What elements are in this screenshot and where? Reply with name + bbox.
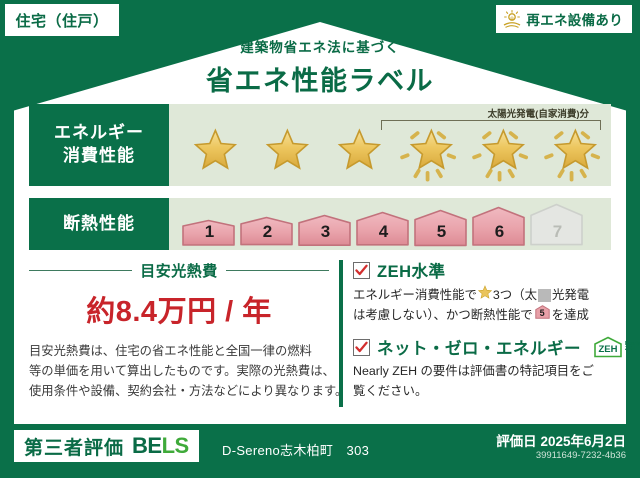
star-1 [181,122,251,184]
solar-bracket [381,120,601,130]
checkmark-icon [353,339,370,356]
bels-jp-text: 第三者評価 [24,433,124,460]
zeh-desc-line2-post: を達成 [552,306,589,325]
insulation-house-5: 5 [413,209,470,247]
svg-text:ZEH: ZEH [599,344,618,355]
net-zero-desc-line2: 覧ください。 [353,382,640,401]
zeh-desc-line2: は考慮しない）、かつ断熱性能で 5 を達成 [353,305,640,325]
checkmark-icon [353,262,370,279]
utility-cost-header: 目安光熱費 [29,260,329,281]
column-divider [339,260,343,407]
insulation-house-number: 2 [239,222,296,242]
star-icon-inline [478,285,492,305]
energy-performance-body: 太陽光発電(自家消費)分 [169,104,611,186]
page-title: 省エネ性能ラベル [0,59,640,98]
redacted-character [538,289,551,302]
net-zero-desc-line1: Nearly ZEH の要件は評価書の特記項目をご [353,362,640,381]
insulation-house-4: 4 [355,211,412,247]
net-zero-check-row: ネット・ゼロ・エネルギー ZEH Nearly ZEH [353,335,640,359]
zeh-logo: ZEH Nearly ZEH [593,336,640,358]
zeh-logo-sub: Nearly ZEH [625,342,640,353]
label-subtitle: 建築物省エネ法に基づく [0,36,640,56]
bels-logo-part2: LS [162,433,189,458]
title-block: 建築物省エネ法に基づく 省エネ性能ラベル [0,36,640,98]
house-badge-inline: 5 [535,305,550,325]
evaluation-date: 評価日 2025年6月2日 [496,430,626,450]
footer: 第三者評価 BELS D-Sereno志木柏町 303 評価日 2025年6月2… [0,424,640,478]
zeh-column: ZEH水準 エネルギー消費性能で 3つ（太 光発電 [353,258,640,413]
zeh-desc-post: 光発電 [552,286,589,305]
insulation-house-number: 1 [181,222,238,242]
energy-label-root: 住宅（住戸） ⊕ 再エネ設備あり 建築物省エネ法に基づく [0,0,640,478]
star-5 [469,122,539,184]
insulation-performance-label: 断熱性能 [29,198,169,250]
bels-logo: BELS [132,433,189,459]
insulation-house-2: 2 [239,216,296,247]
energy-label-line2: 消費性能 [63,145,135,168]
cost-note-line2: 等の単価を用いて算出したものです。実際の光熱費は、 [29,362,329,382]
insulation-house-6: 6 [471,206,528,247]
zeh-desc-line1: エネルギー消費性能で 3つ（太 光発電 [353,285,640,305]
utility-cost-column: 目安光熱費 約8.4万円 / 年 目安光熱費は、住宅の省エネ性能と全国一律の燃料… [29,258,339,413]
insulation-house-number: 7 [529,222,586,242]
sun-icon: ⊕ [502,9,522,29]
utility-cost-note: 目安光熱費は、住宅の省エネ性能と全国一律の燃料 等の単価を用いて算出したものです… [29,342,329,402]
energy-label-line1: エネルギー [54,122,144,145]
star-4 [397,122,467,184]
net-zero-title: ネット・ゼロ・エネルギー [377,335,581,359]
bels-logo-part1: BE [132,433,162,458]
insulation-house-3: 3 [297,214,354,247]
solar-bracket-label: 太陽光発電(自家消費)分 [484,106,593,120]
insulation-performance-row: 断熱性能 1 [29,198,611,250]
net-zero-energy-block: ネット・ゼロ・エネルギー ZEH Nearly ZEH Nearly ZEH の… [353,335,640,400]
rule-left [29,270,132,272]
utility-cost-value: 約8.4万円 / 年 [29,288,329,330]
evaluation-id: 39911649-7232-4b36 [536,450,626,461]
lower-section: 目安光熱費 約8.4万円 / 年 目安光熱費は、住宅の省エネ性能と全国一律の燃料… [29,258,611,413]
insulation-label-text: 断熱性能 [63,213,135,236]
cost-note-line3: 使用条件や設備、契約会社・方法などにより異なります。 [29,382,329,402]
svg-text:⊕: ⊕ [511,16,515,21]
insulation-house-number: 5 [413,222,470,242]
net-zero-desc: Nearly ZEH の要件は評価書の特記項目をご 覧ください。 [353,362,640,400]
insulation-house-number: 4 [355,222,412,242]
cost-note-line1: 目安光熱費は、住宅の省エネ性能と全国一律の燃料 [29,342,329,362]
star-3 [325,122,395,184]
zeh-standard-title: ZEH水準 [377,258,446,282]
zeh-desc-mid: 3つ（太 [493,286,537,305]
star-2 [253,122,323,184]
insulation-performance-body: 1 2 3 [169,198,611,250]
zeh-check-row: ZEH水準 [353,258,640,282]
star-rating [169,122,611,184]
zeh-standard-desc: エネルギー消費性能で 3つ（太 光発電 は考慮しない）、かつ断熱性能で [353,285,640,325]
renewable-equipment-badge: ⊕ 再エネ設備あり [496,5,632,33]
property-name: D-Sereno志木柏町 303 [222,440,369,459]
utility-cost-header-text: 目安光熱費 [140,260,218,281]
insulation-house-number: 3 [297,222,354,242]
insulation-house-scale: 1 2 3 [181,203,586,247]
insulation-house-number: 6 [471,222,528,242]
zeh-standard-block: ZEH水準 エネルギー消費性能で 3つ（太 光発電 [353,258,640,325]
zeh-desc-pre: エネルギー消費性能で [353,286,477,305]
rule-right [226,270,329,272]
star-6 [541,122,611,184]
zeh-logo-sub-line2: ZEH [625,346,635,352]
zeh-desc-line2-pre: は考慮しない）、かつ断熱性能で [353,306,533,325]
house-type-text: 住宅（住戸） [15,10,108,31]
energy-performance-label: エネルギー 消費性能 [29,104,169,186]
renewable-badge-label: 再エネ設備あり [526,9,623,29]
insulation-house-1: 1 [181,219,238,247]
house-type-tag: 住宅（住戸） [5,4,119,36]
bels-badge: 第三者評価 BELS [14,430,199,462]
energy-performance-row: エネルギー 消費性能 太陽光発電(自家消費)分 [29,104,611,186]
house-badge-number: 5 [535,307,550,321]
insulation-house-7: 7 [529,203,586,247]
